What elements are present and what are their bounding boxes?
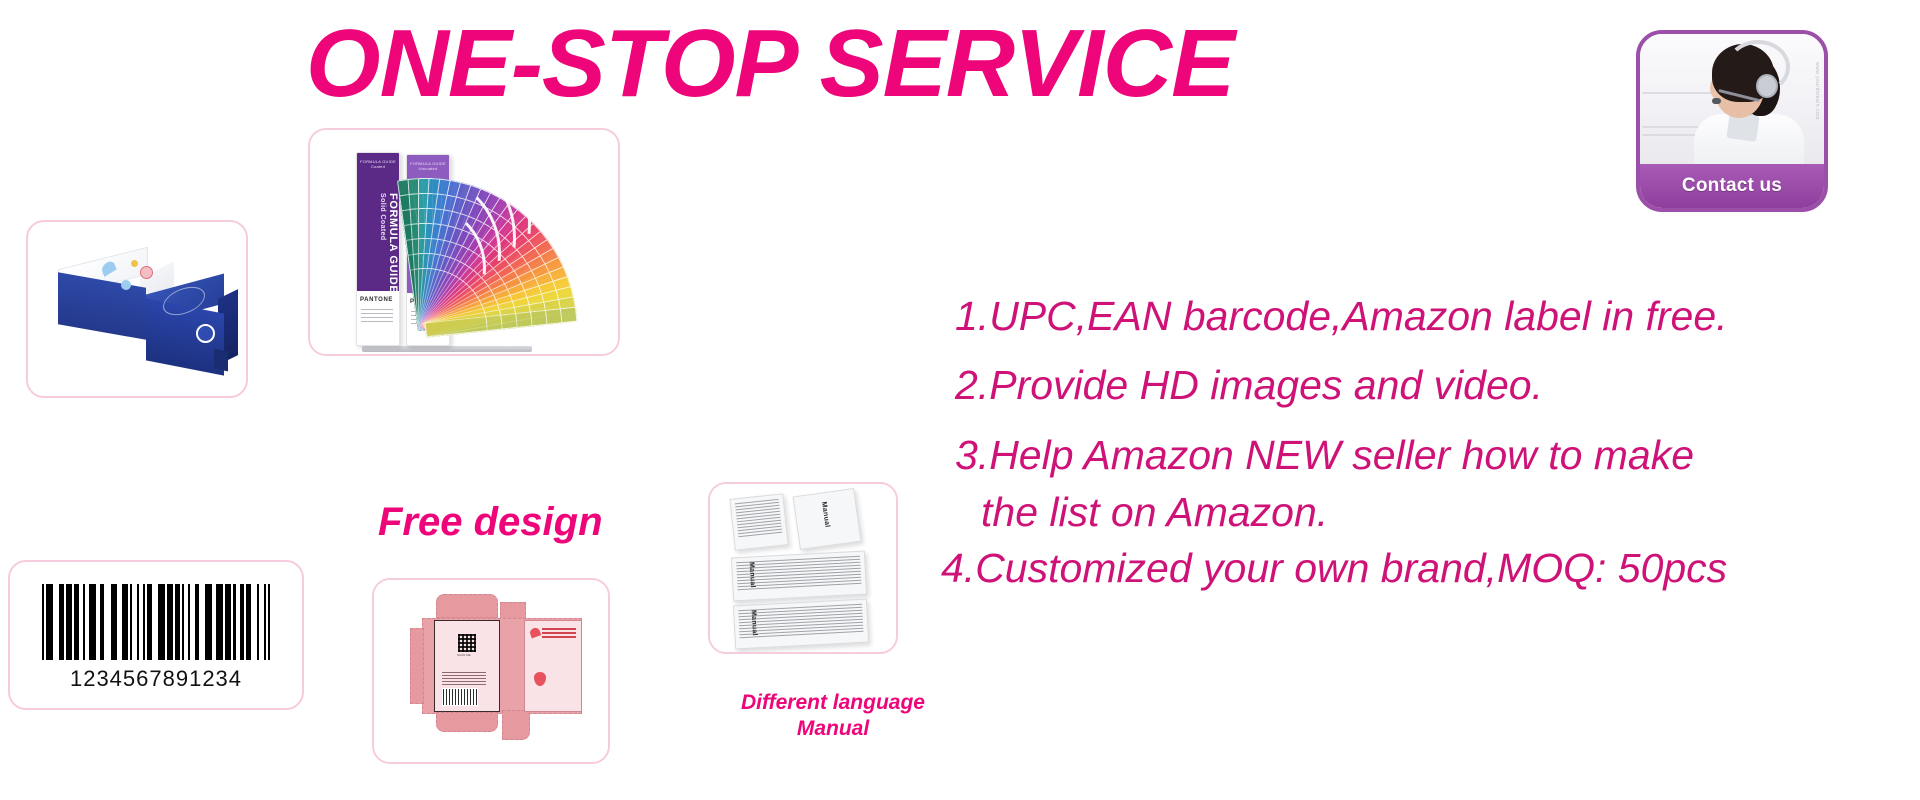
dieline-bottom-flap: [436, 712, 498, 732]
manual-caption-line1: Different language: [708, 690, 958, 716]
qr-code-icon: [458, 634, 476, 652]
manual-caption-line2: Manual: [708, 716, 958, 742]
pantone-brand-coated: PANTONE: [360, 297, 393, 303]
manual-folded-1: Manual: [731, 551, 867, 602]
feature-item-4: 4.Customized your own brand,MOQ: 50pcs: [941, 540, 1915, 597]
manual-caption: Different language Manual: [708, 690, 958, 741]
dieline-spec-text: [442, 672, 486, 687]
manual-cover-booklet: Manual: [793, 488, 862, 550]
feature-item-3: 3.Help Amazon NEW seller how to make: [955, 427, 1915, 484]
headset-mic-icon: [1712, 98, 1721, 104]
box-pull-tab: [214, 349, 228, 372]
manual-open-sheet: [729, 493, 788, 550]
gift-box-photo-frame: [26, 220, 248, 398]
dieline-top-flap: [436, 594, 498, 618]
dieline-headline-lines: [542, 628, 576, 640]
manual-fold-label: Manual: [750, 610, 758, 636]
manual-fold-label: Manual: [748, 562, 756, 588]
qr-caption: SCAN ME: [457, 653, 471, 657]
pantone-guide-coated: FORMULA GUIDE Coated FORMULA GUIDE Solid…: [356, 152, 400, 346]
headset-earcup-icon: [1756, 74, 1778, 98]
dieline-barcode-icon: [442, 688, 478, 706]
feature-item-1: 1.UPC,EAN barcode,Amazon label in free.: [955, 288, 1915, 345]
photo-watermark: www.yourdomain.com: [1814, 62, 1820, 120]
dieline-left-tab: [410, 628, 424, 704]
manual-illustration: Manual Manual Manual: [710, 484, 896, 652]
contact-us-badge[interactable]: www.yourdomain.com Contact us: [1636, 30, 1828, 212]
support-agent-photo: www.yourdomain.com: [1640, 34, 1824, 164]
barcode-bar: [268, 584, 270, 660]
orange-dot-icon: [131, 260, 138, 267]
pantone-guide-photo-frame: FORMULA GUIDE Coated FORMULA GUIDE Solid…: [308, 128, 620, 356]
packaging-dieline-frame: SCAN ME: [372, 578, 610, 764]
dieline-illustration: SCAN ME: [374, 580, 608, 762]
blue-badge-icon: [121, 280, 131, 290]
guide-cap-tiny-uncoated: FORMULA GUIDE Uncoated: [407, 161, 449, 171]
feature-item-3-continued: the list on Amazon.: [955, 484, 1915, 541]
white-box-front: [58, 272, 146, 340]
pantone-base-shadow: [362, 346, 532, 352]
guide-caption-lines-coated: [361, 309, 393, 325]
feature-item-2: 2.Provide HD images and video.: [955, 357, 1915, 414]
dieline-bottom-right-flap: [502, 710, 530, 740]
contact-us-button[interactable]: Contact us: [1640, 164, 1824, 208]
manual-folded-2: Manual: [733, 599, 869, 650]
barcode-label-frame: 1234567891234: [8, 560, 304, 710]
photo-streak: [1642, 92, 1716, 94]
red-badge-icon: [140, 266, 153, 279]
manual-text-lines: [735, 499, 783, 545]
pantone-illustration: FORMULA GUIDE Coated FORMULA GUIDE Solid…: [310, 130, 618, 354]
gift-box-illustration: [28, 222, 246, 396]
barcode-bars: [42, 584, 270, 660]
feature-list: 1.UPC,EAN barcode,Amazon label in free. …: [955, 288, 1915, 597]
manual-photo-frame: Manual Manual Manual: [708, 482, 898, 654]
guide-cap-tiny-coated: FORMULA GUIDE Coated: [357, 159, 399, 169]
page-title: ONE-STOP SERVICE: [0, 14, 1540, 115]
guide-cap-coated: FORMULA GUIDE Coated FORMULA GUIDE Solid…: [357, 153, 399, 291]
contact-us-label: Contact us: [1682, 175, 1782, 197]
free-design-label: Free design: [378, 500, 603, 545]
manual-cover-label: Manual: [820, 501, 831, 528]
barcode-number: 1234567891234: [10, 666, 302, 692]
box-seal-icon: [196, 324, 215, 343]
guide-subtitle-coated: Solid Coated: [357, 189, 399, 327]
